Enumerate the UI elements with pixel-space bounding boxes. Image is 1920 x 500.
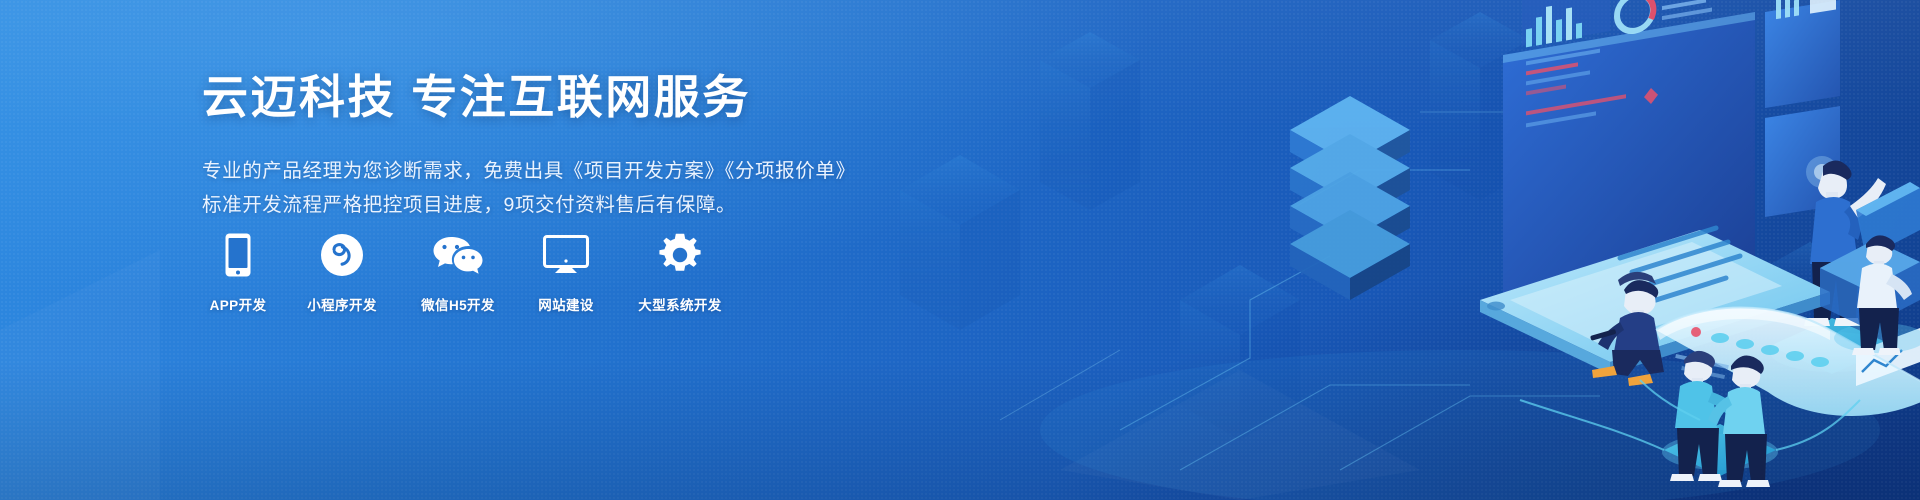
subtitle-line-2: 标准开发流程严格把控项目进度，9项交付资料售后有保障。 xyxy=(202,188,922,222)
page-title: 云迈科技 专注互联网服务 xyxy=(202,70,922,124)
gear-icon xyxy=(658,232,702,278)
service-list: APP开发 小程序开发 xyxy=(202,232,734,314)
service-item-website[interactable]: 网站建设 xyxy=(526,232,606,314)
mini-program-icon xyxy=(321,232,363,278)
service-item-app[interactable]: APP开发 xyxy=(202,232,274,314)
service-label-wechat-h5: 微信H5开发 xyxy=(421,294,495,314)
person-pair-bottom xyxy=(1662,351,1778,487)
service-item-large-system[interactable]: 大型系统开发 xyxy=(626,232,734,314)
service-item-wechat-h5[interactable]: 微信H5开发 xyxy=(410,232,506,314)
subtitle-line-1: 专业的产品经理为您诊断需求，免费出具《项目开发方案》《分项报价单》 xyxy=(202,154,922,188)
service-label-large-system: 大型系统开发 xyxy=(638,294,721,314)
wechat-icon xyxy=(432,232,484,278)
banner-copy: 云迈科技 专注互联网服务 专业的产品经理为您诊断需求，免费出具《项目开发方案》《… xyxy=(202,70,922,222)
isometric-data-dashboard-illustration xyxy=(820,0,1920,500)
service-label-website: 网站建设 xyxy=(538,294,594,314)
service-label-app: APP开发 xyxy=(210,294,267,314)
service-item-mini-program[interactable]: 小程序开发 xyxy=(294,232,390,314)
service-label-mini-program: 小程序开发 xyxy=(307,294,377,314)
hero-banner: 云迈科技 专注互联网服务 专业的产品经理为您诊断需求，免费出具《项目开发方案》《… xyxy=(0,0,1920,500)
mobile-phone-icon xyxy=(225,232,251,278)
monitor-icon xyxy=(543,232,589,278)
server-stack xyxy=(1290,96,1410,300)
